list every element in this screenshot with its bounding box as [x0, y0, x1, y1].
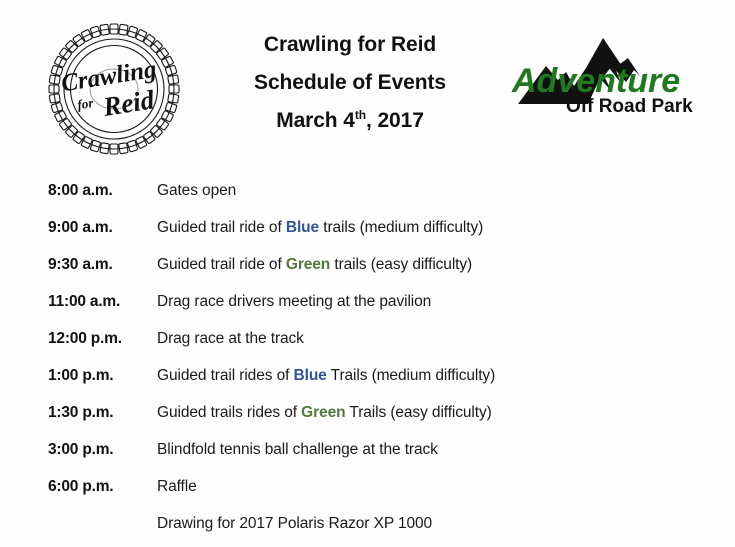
date-prefix: March 4 — [276, 109, 355, 132]
page-title-line-1: Crawling for Reid — [200, 26, 500, 64]
adventure-off-road-park-logo: Adventure Off Road Park — [508, 30, 698, 118]
schedule-row-time: 6:00 p.m. — [48, 468, 113, 505]
schedule-row: 11:00 a.m.Drag race drivers meeting at t… — [0, 283, 735, 320]
description-text: Trails (medium difficulty) — [327, 367, 495, 384]
description-text: Guided trail rides of — [157, 367, 294, 384]
description-text: Blindfold tennis ball challenge at the t… — [157, 441, 438, 458]
schedule-row-description: Guided trail ride of Blue trails (medium… — [157, 209, 483, 246]
description-text: Gates open — [157, 182, 236, 199]
description-text: trails (easy difficulty) — [330, 256, 472, 273]
trail-keyword-green: Green — [286, 256, 330, 273]
schedule-row: Drawing for 2017 Polaris Razor XP 1000 — [0, 505, 735, 542]
page-title-line-2: Schedule of Events — [200, 64, 500, 102]
off-road-park-wordmark: Off Road Park — [566, 96, 693, 117]
schedule-list: 8:00 a.m.Gates open9:00 a.m.Guided trail… — [0, 172, 735, 542]
schedule-row-time: 3:00 p.m. — [48, 431, 113, 468]
schedule-row-time: 11:00 a.m. — [48, 283, 120, 320]
schedule-row-time: 12:00 p.m. — [48, 320, 122, 357]
crawling-for-reid-logo: Crawling for Reid — [38, 12, 190, 164]
flyer-header: Crawling for Reid Crawling for Reid Sche… — [0, 0, 735, 172]
schedule-row-description: Drawing for 2017 Polaris Razor XP 1000 — [157, 505, 432, 542]
description-text: trails (medium difficulty) — [319, 219, 483, 236]
schedule-row: 6:00 p.m.Raffle — [0, 468, 735, 505]
schedule-row-description: Gates open — [157, 172, 236, 209]
description-text: Guided trail ride of — [157, 256, 286, 273]
schedule-row: 1:30 p.m.Guided trails rides of Green Tr… — [0, 394, 735, 431]
description-text: Drawing for 2017 Polaris Razor XP 1000 — [157, 515, 432, 532]
adventure-wordmark: Adventure — [511, 62, 680, 100]
date-ordinal: th — [355, 108, 366, 122]
schedule-row-description: Guided trail rides of Blue Trails (mediu… — [157, 357, 495, 394]
schedule-row-time: 1:30 p.m. — [48, 394, 113, 431]
description-text: Drag race drivers meeting at the pavilio… — [157, 293, 431, 310]
schedule-row: 12:00 p.m.Drag race at the track — [0, 320, 735, 357]
description-text: Guided trail ride of — [157, 219, 286, 236]
date-suffix: , 2017 — [366, 109, 424, 132]
trail-keyword-blue: Blue — [294, 367, 327, 384]
schedule-row: 3:00 p.m.Blindfold tennis ball challenge… — [0, 431, 735, 468]
description-text: Raffle — [157, 478, 197, 495]
trail-keyword-green: Green — [301, 404, 345, 421]
schedule-row: 9:00 a.m.Guided trail ride of Blue trail… — [0, 209, 735, 246]
schedule-row-description: Guided trails rides of Green Trails (eas… — [157, 394, 492, 431]
schedule-row-description: Raffle — [157, 468, 197, 505]
description-text: Guided trails rides of — [157, 404, 301, 421]
schedule-row-description: Drag race drivers meeting at the pavilio… — [157, 283, 431, 320]
trail-keyword-blue: Blue — [286, 219, 319, 236]
description-text: Trails (easy difficulty) — [345, 404, 491, 421]
schedule-row-time: 9:00 a.m. — [48, 209, 113, 246]
schedule-row-time: 9:30 a.m. — [48, 246, 113, 283]
page-title-date: March 4th, 2017 — [200, 102, 500, 140]
schedule-row: 8:00 a.m.Gates open — [0, 172, 735, 209]
title-block: Crawling for Reid Schedule of Events Mar… — [200, 26, 500, 140]
schedule-row: 9:30 a.m.Guided trail ride of Green trai… — [0, 246, 735, 283]
schedule-row-description: Drag race at the track — [157, 320, 304, 357]
schedule-row-description: Blindfold tennis ball challenge at the t… — [157, 431, 438, 468]
schedule-row-time: 1:00 p.m. — [48, 357, 113, 394]
description-text: Drag race at the track — [157, 330, 304, 347]
schedule-row-description: Guided trail ride of Green trails (easy … — [157, 246, 472, 283]
schedule-row-time: 8:00 a.m. — [48, 172, 113, 209]
event-schedule-flyer: Crawling for Reid Crawling for Reid Sche… — [0, 0, 735, 547]
schedule-row: 1:00 p.m.Guided trail rides of Blue Trai… — [0, 357, 735, 394]
